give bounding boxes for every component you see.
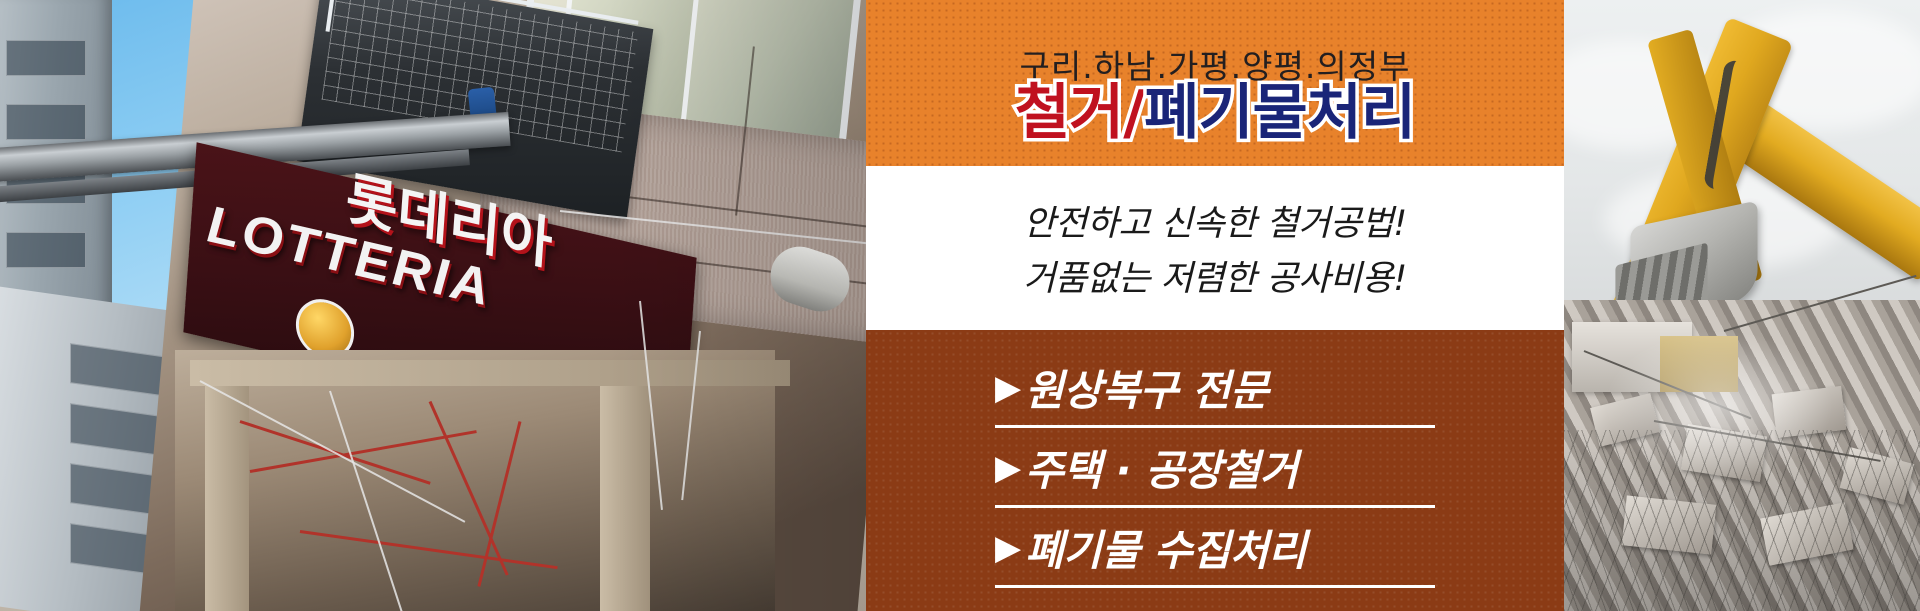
headline: 철거/폐기물처리 [866,82,1564,145]
service-item-label: 폐기물 수집처리 [1025,517,1306,578]
headline-separator: / [1123,78,1144,148]
service-item-label: 원상복구 전문 [1025,357,1268,418]
dust-cloud [1604,330,1834,480]
text-panel: 구리.하남.가평.양평.의정부 철거/폐기물처리 안전하고 신속한 철거공법! … [866,0,1564,611]
triangle-bullet-icon: ▶ [995,451,1021,485]
service-item-restoration[interactable]: ▶ 원상복구 전문 [995,357,1435,428]
photo-vignette [0,0,866,611]
panel-top-orange-section: 구리.하남.가평.양평.의정부 철거/폐기물처리 [866,0,1564,166]
triangle-bullet-icon: ▶ [995,531,1021,565]
service-item-label: 주택 · 공장철거 [1025,437,1298,498]
promo-banner: LOTTERIA 롯데리아 구리.하남.가평.양평.의정부 철거/폐기물처리 안… [0,0,1920,611]
headline-part-waste: 폐기물처리 [1144,78,1415,148]
tagline-line-2: 거품없는 저렴한 공사비용! [1023,250,1406,301]
triangle-bullet-icon: ▶ [995,371,1021,405]
service-item-house-factory-demolition[interactable]: ▶ 주택 · 공장철거 [995,437,1435,508]
left-demolition-photo: LOTTERIA 롯데리아 [0,0,866,611]
right-excavator-photo [1564,0,1920,611]
panel-bottom-brown-section: ▶ 원상복구 전문 ▶ 주택 · 공장철거 ▶ 폐기물 수집처리 [866,330,1564,611]
tagline-line-1: 안전하고 신속한 철거공법! [1023,195,1406,246]
headline-part-demolition: 철거 [1015,78,1123,148]
service-item-waste-collection[interactable]: ▶ 폐기물 수집처리 [995,517,1435,588]
panel-mid-white-section: 안전하고 신속한 철거공법! 거품없는 저렴한 공사비용! [866,166,1564,330]
